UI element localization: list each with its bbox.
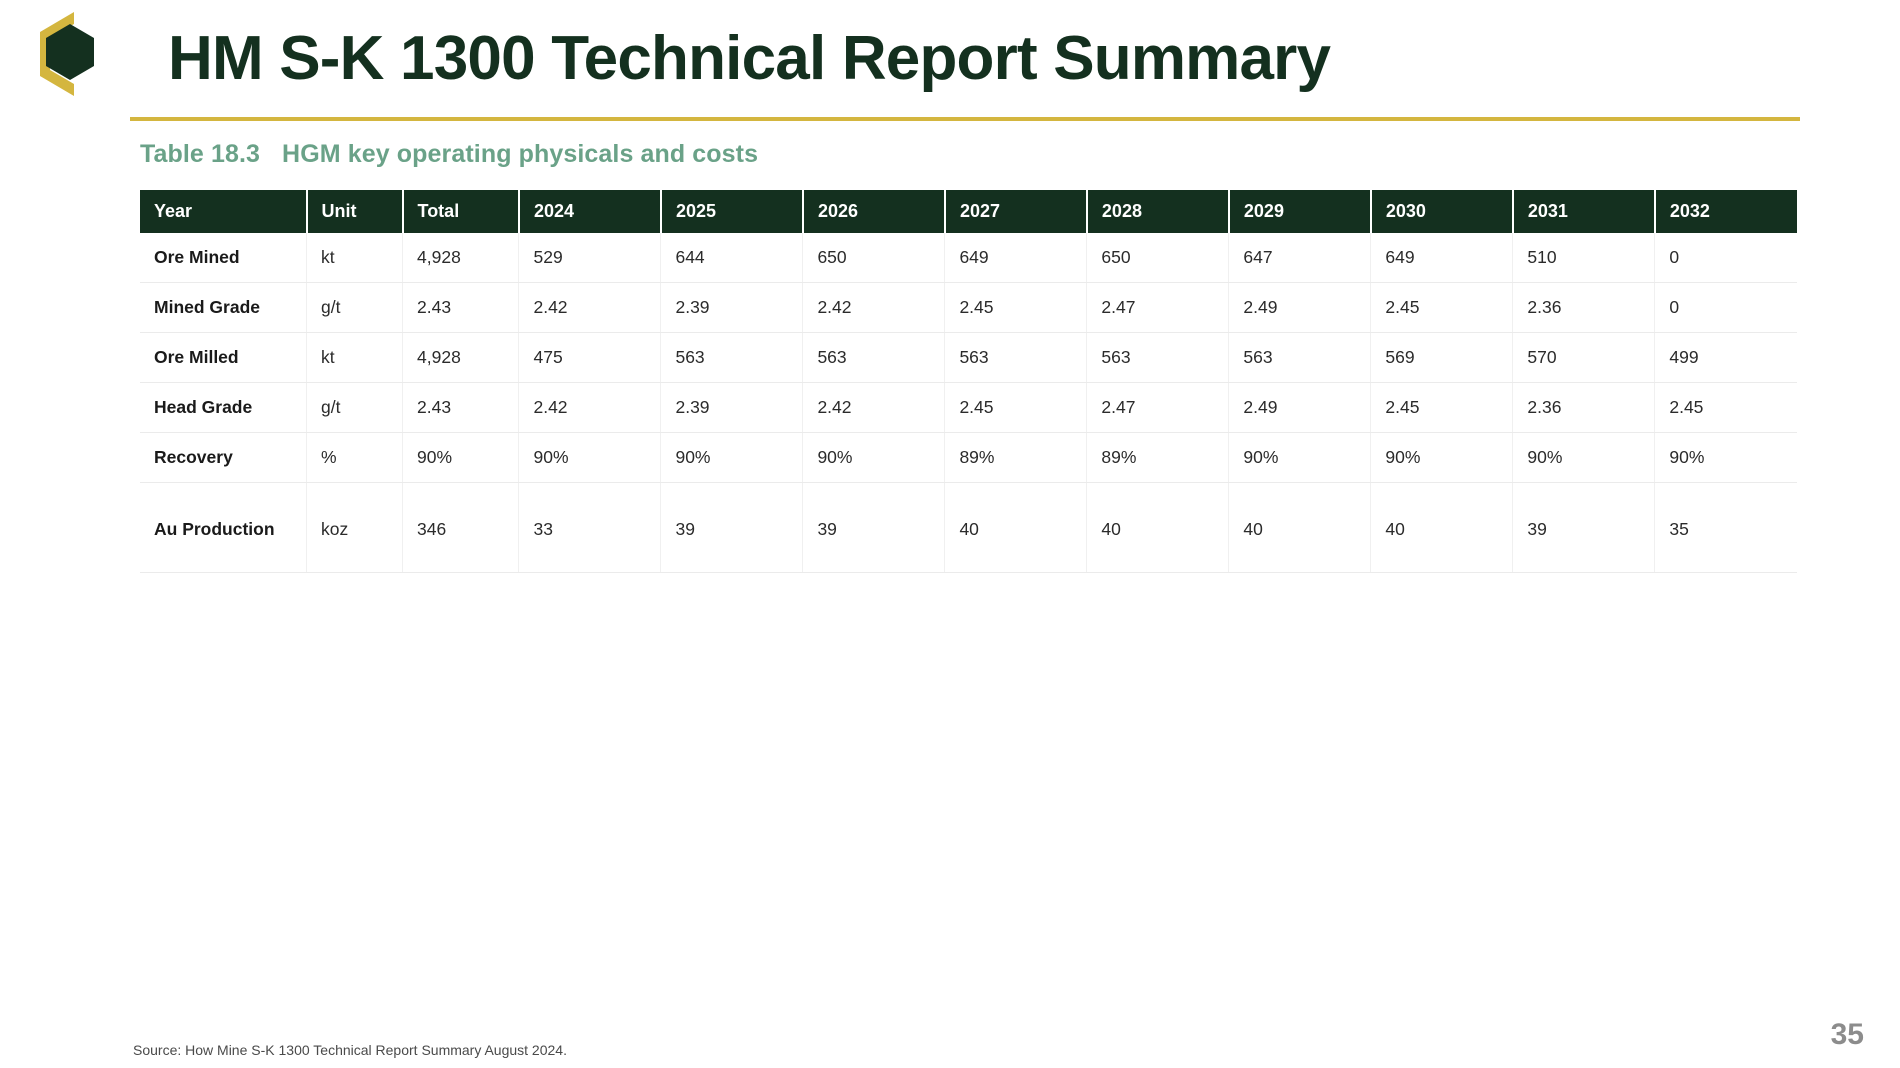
cell-value: 644 — [661, 233, 803, 283]
cell-value: 2.43 — [403, 283, 519, 333]
column-header-2032[interactable]: 2032 — [1655, 190, 1797, 233]
cell-value: 39 — [803, 483, 945, 573]
cell-value: 2.49 — [1229, 383, 1371, 433]
row-unit: % — [307, 433, 403, 483]
cell-value: 2.36 — [1513, 383, 1655, 433]
cell-value: 2.36 — [1513, 283, 1655, 333]
cell-value: 2.42 — [519, 383, 661, 433]
table-caption-text: HGM key operating physicals and costs — [282, 140, 758, 168]
row-label: Head Grade — [140, 383, 307, 433]
cell-value: 40 — [1371, 483, 1513, 573]
cell-value: 563 — [1229, 333, 1371, 383]
cell-value: 346 — [403, 483, 519, 573]
cell-value: 2.45 — [1655, 383, 1797, 433]
cell-value: 2.47 — [1087, 283, 1229, 333]
table-row: Ore Minedkt4,928529644650649650647649510… — [140, 233, 1797, 283]
cell-value: 2.45 — [945, 383, 1087, 433]
table-row: Au Productionkoz346333939404040403935 — [140, 483, 1797, 573]
column-header-2024[interactable]: 2024 — [519, 190, 661, 233]
cell-value: 2.42 — [803, 283, 945, 333]
column-header-year[interactable]: Year — [140, 190, 307, 233]
cell-value: 90% — [1513, 433, 1655, 483]
cell-value: 563 — [803, 333, 945, 383]
row-label: Au Production — [140, 483, 307, 573]
column-header-unit[interactable]: Unit — [307, 190, 403, 233]
cell-value: 2.47 — [1087, 383, 1229, 433]
cell-value: 90% — [519, 433, 661, 483]
row-label: Ore Milled — [140, 333, 307, 383]
cell-value: 0 — [1655, 233, 1797, 283]
column-header-2031[interactable]: 2031 — [1513, 190, 1655, 233]
cell-value: 529 — [519, 233, 661, 283]
cell-value: 90% — [803, 433, 945, 483]
cell-value: 4,928 — [403, 233, 519, 283]
page-number: 35 — [1831, 1018, 1864, 1052]
row-label: Recovery — [140, 433, 307, 483]
cell-value: 2.45 — [1371, 383, 1513, 433]
operating-physicals-table-container: YearUnitTotal202420252026202720282029203… — [140, 190, 1797, 573]
cell-value: 2.42 — [803, 383, 945, 433]
table-row: Recovery%90%90%90%90%89%89%90%90%90%90% — [140, 433, 1797, 483]
cell-value: 90% — [1655, 433, 1797, 483]
slide-header: HM S-K 1300 Technical Report Summary — [0, 0, 1900, 128]
cell-value: 647 — [1229, 233, 1371, 283]
column-header-2027[interactable]: 2027 — [945, 190, 1087, 233]
cell-value: 90% — [1229, 433, 1371, 483]
cell-value: 90% — [1371, 433, 1513, 483]
row-label: Ore Mined — [140, 233, 307, 283]
cell-value: 499 — [1655, 333, 1797, 383]
cell-value: 39 — [1513, 483, 1655, 573]
cell-value: 650 — [1087, 233, 1229, 283]
cell-value: 2.45 — [945, 283, 1087, 333]
source-note: Source: How Mine S-K 1300 Technical Repo… — [133, 1042, 567, 1058]
cell-value: 570 — [1513, 333, 1655, 383]
table-header-row: YearUnitTotal202420252026202720282029203… — [140, 190, 1797, 233]
cell-value: 569 — [1371, 333, 1513, 383]
column-header-2030[interactable]: 2030 — [1371, 190, 1513, 233]
header-divider — [130, 117, 1800, 121]
table-caption-number: Table 18.3 — [140, 140, 260, 168]
cell-value: 89% — [1087, 433, 1229, 483]
column-header-2026[interactable]: 2026 — [803, 190, 945, 233]
cell-value: 649 — [945, 233, 1087, 283]
cell-value: 39 — [661, 483, 803, 573]
column-header-2025[interactable]: 2025 — [661, 190, 803, 233]
cell-value: 649 — [1371, 233, 1513, 283]
cell-value: 2.42 — [519, 283, 661, 333]
row-unit: kt — [307, 333, 403, 383]
cell-value: 90% — [661, 433, 803, 483]
page-title: HM S-K 1300 Technical Report Summary — [168, 18, 1330, 100]
cell-value: 0 — [1655, 283, 1797, 333]
cell-value: 35 — [1655, 483, 1797, 573]
cell-value: 2.49 — [1229, 283, 1371, 333]
cell-value: 2.43 — [403, 383, 519, 433]
table-row: Head Gradeg/t2.432.422.392.422.452.472.4… — [140, 383, 1797, 433]
cell-value: 2.39 — [661, 383, 803, 433]
cell-value: 563 — [1087, 333, 1229, 383]
column-header-2029[interactable]: 2029 — [1229, 190, 1371, 233]
operating-physicals-table: YearUnitTotal202420252026202720282029203… — [140, 190, 1797, 573]
cell-value: 40 — [945, 483, 1087, 573]
cell-value: 33 — [519, 483, 661, 573]
cell-value: 563 — [661, 333, 803, 383]
hexagon-logo-icon — [22, 8, 102, 100]
table-row: Mined Gradeg/t2.432.422.392.422.452.472.… — [140, 283, 1797, 333]
cell-value: 40 — [1229, 483, 1371, 573]
cell-value: 650 — [803, 233, 945, 283]
cell-value: 2.39 — [661, 283, 803, 333]
row-unit: kt — [307, 233, 403, 283]
column-header-total[interactable]: Total — [403, 190, 519, 233]
column-header-2028[interactable]: 2028 — [1087, 190, 1229, 233]
table-row: Ore Milledkt4,92847556356356356356356957… — [140, 333, 1797, 383]
cell-value: 563 — [945, 333, 1087, 383]
cell-value: 89% — [945, 433, 1087, 483]
row-unit: g/t — [307, 383, 403, 433]
row-unit: koz — [307, 483, 403, 573]
cell-value: 4,928 — [403, 333, 519, 383]
cell-value: 510 — [1513, 233, 1655, 283]
cell-value: 2.45 — [1371, 283, 1513, 333]
cell-value: 40 — [1087, 483, 1229, 573]
row-label: Mined Grade — [140, 283, 307, 333]
row-unit: g/t — [307, 283, 403, 333]
table-body: Ore Minedkt4,928529644650649650647649510… — [140, 233, 1797, 573]
table-caption: Table 18.3HGM key operating physicals an… — [140, 140, 758, 169]
cell-value: 475 — [519, 333, 661, 383]
cell-value: 90% — [403, 433, 519, 483]
